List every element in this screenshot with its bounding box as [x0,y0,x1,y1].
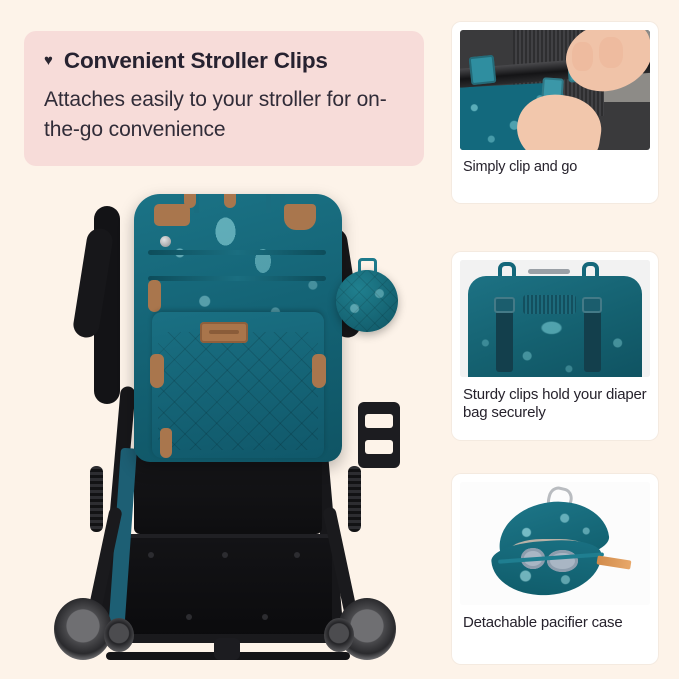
pacifier-pouch [336,270,398,332]
hero-product-photo [18,166,438,679]
buckle-left [494,297,515,312]
buckle-right [582,297,603,312]
basket-rivet [222,552,228,558]
basket-rivet [262,614,268,620]
card-caption: Sturdy clips hold your diaper bag secure… [460,377,650,423]
stroller-spring-right [348,466,361,532]
feature-card-2: Sturdy clips hold your diaper bag secure… [452,252,658,440]
banner-heading-row: ♥ Convenient Stroller Clips [44,48,402,74]
finger [599,37,624,68]
bag-back-panel [468,276,643,377]
card-caption: Detachable pacifier case [460,605,650,632]
card-caption: Simply clip and go [460,150,650,177]
stroller-wheel-left [54,598,112,660]
leather-zip-pull-right [312,354,326,388]
bag-carry-handle-right [266,194,285,213]
feature-subtitle: Attaches easily to your stroller for on-… [44,85,402,145]
leather-zip-pull-left [150,354,164,388]
basket-rivet [148,552,154,558]
pacifier-two [547,550,577,572]
leather-zip-pull-bottom [160,428,172,458]
clip-left [468,55,495,85]
feature-banner: ♥ Convenient Stroller Clips Attaches eas… [24,31,424,166]
feature-title: Convenient Stroller Clips [64,48,328,74]
stroller-cup-holder [358,402,400,468]
basket-rivet [294,552,300,558]
photo-open-pacifier-case-with-carabiner [460,482,650,605]
bag-zipper [528,269,570,274]
stroller-wheel-small-left [104,618,134,652]
finger [572,42,593,71]
stroller-center-hub [214,638,240,660]
heart-icon: ♥ [44,53,53,68]
bag-zipper-upper [148,250,326,255]
stroller-spring-left [90,466,103,532]
leather-patch-right [284,204,316,230]
leather-zip-pull-side [148,280,161,312]
photo-hands-clipping-bag-to-stroller-bar [460,30,650,150]
back-padded-panel [523,295,576,314]
leather-zip-pull [224,194,236,208]
metal-stud [160,236,171,247]
infographic-canvas: ♥ Convenient Stroller Clips Attaches eas… [0,0,679,679]
photo-bag-back-straps-and-clips [460,260,650,377]
quilted-texture [158,332,318,450]
bag-zipper-lower [148,276,326,281]
feature-card-1: Simply clip and go [452,22,658,203]
basket-rivet [186,614,192,620]
feature-card-3: Detachable pacifier case [452,474,658,664]
diaper-backpack [134,194,342,462]
stroller-storage-basket [122,538,332,638]
leather-patch-left [154,204,190,226]
bag-leather-logo-label [200,322,248,343]
stroller-wheel-small-right [324,618,354,652]
